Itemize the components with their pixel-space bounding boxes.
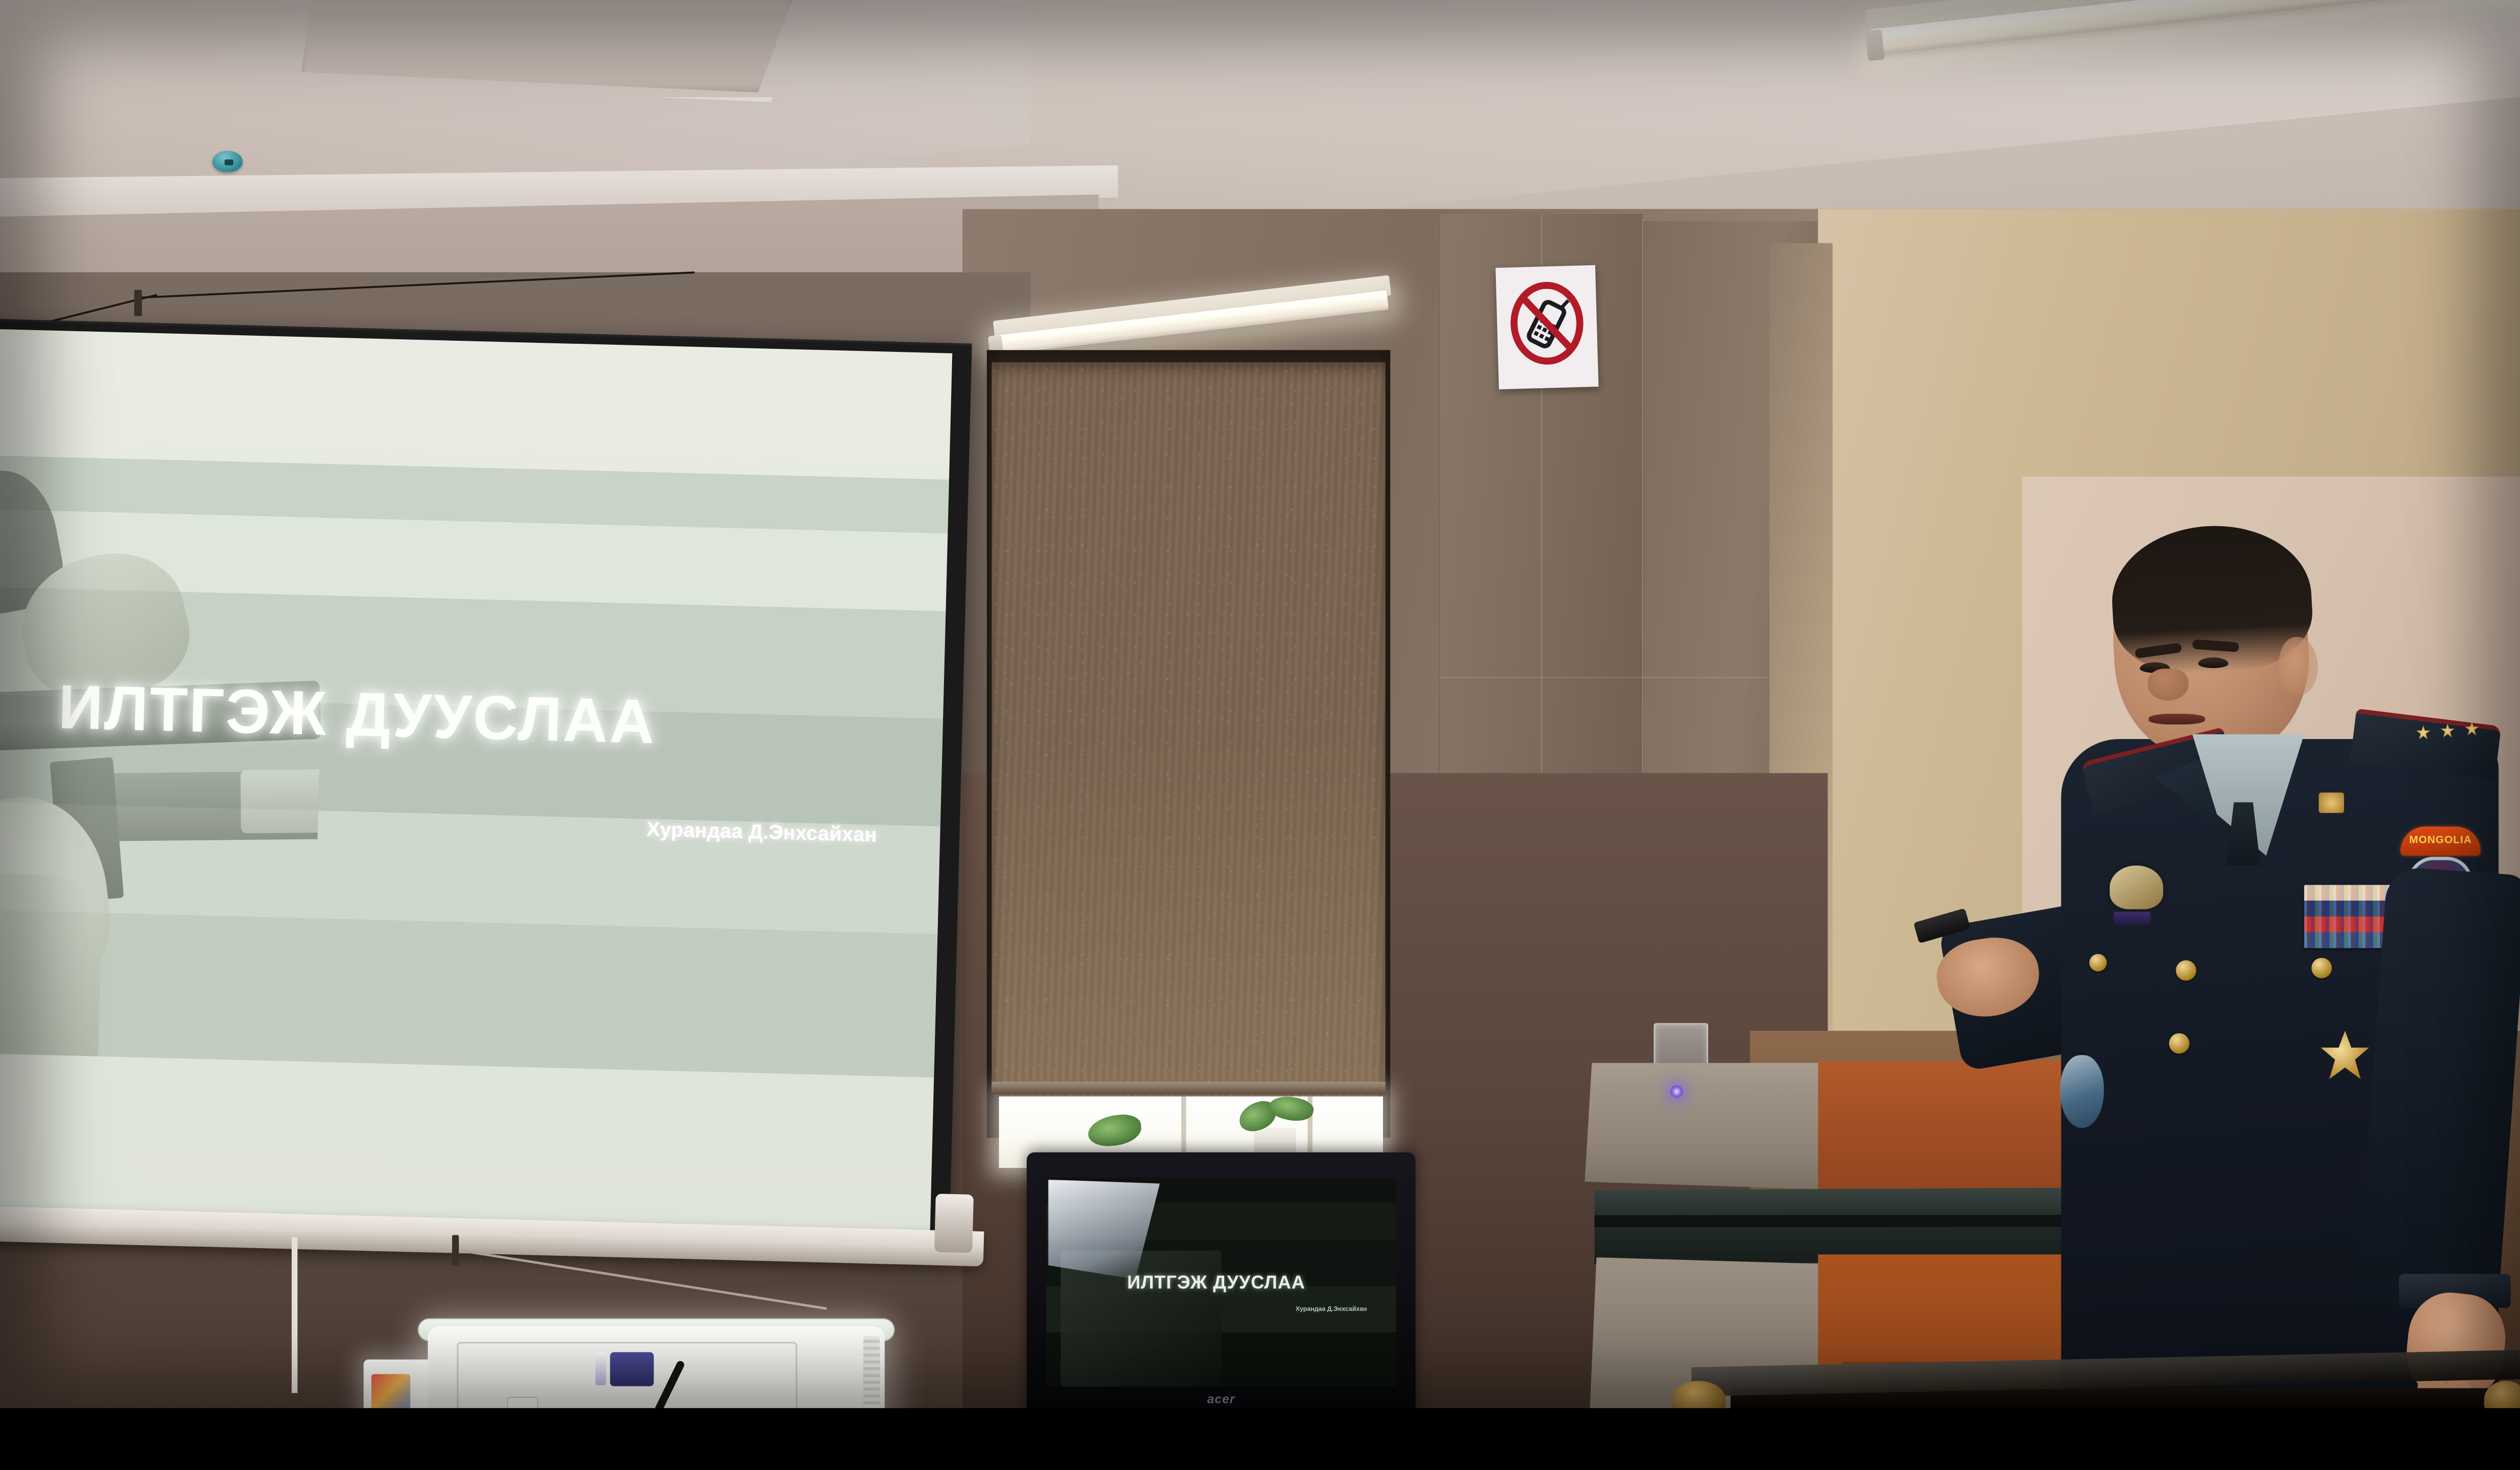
officer-side-badge	[2060, 1055, 2104, 1128]
screen-pull-cord[interactable]	[292, 1238, 298, 1393]
officer-ear	[2279, 637, 2318, 696]
officer-nose	[2148, 668, 2188, 701]
officer-button-4	[2089, 954, 2107, 971]
slide-photo-body	[0, 872, 103, 1062]
blind-texture	[992, 362, 1385, 1096]
officer-wing-badge	[2110, 866, 2163, 909]
officer-button-3	[2169, 1033, 2190, 1054]
screen-mount-hook	[134, 290, 142, 316]
officer-button-2	[2311, 958, 2332, 978]
projection-screen-surface: ИЛТГЭЖ ДУУСЛАА Хурандаа Д.Энхсайхан	[0, 329, 952, 1243]
lectern-top-side	[1585, 1063, 1823, 1189]
image-bottom-edge	[0, 1408, 2520, 1418]
officer-presenter: MONGOLIA	[2032, 530, 2520, 1418]
officer-button-1	[2176, 960, 2196, 981]
officer-patch-text: MONGOLIA	[2401, 833, 2481, 846]
conference-hall-photo: ИЛТГЭЖ ДУУСЛАА Хурандаа Д.Энхсайхан ИЛТГ…	[0, 0, 2520, 1418]
officer-eye-right	[2198, 657, 2228, 668]
no-phone-icon	[1495, 265, 1598, 390]
officer-collar-insignia	[2319, 792, 2344, 813]
no-mobile-phones-sign	[1495, 265, 1598, 390]
blind-bottom-bar[interactable]	[992, 1082, 1385, 1094]
projector-vents	[863, 1336, 880, 1418]
monitor-slide-subtitle: Хурандаа Д.Энхсайхан	[1046, 1305, 1367, 1312]
projection-screen: ИЛТГЭЖ ДУУСЛАА Хурандаа Д.Энхсайхан	[0, 321, 972, 1250]
lectern-status-led	[1670, 1085, 1683, 1098]
monitor-slide-title: ИЛТГЭЖ ДУУСЛАА	[1046, 1272, 1387, 1293]
projector-front-panel	[457, 1342, 797, 1415]
cable-hook	[452, 1235, 459, 1265]
officer-name-bar	[2114, 911, 2151, 924]
laptop-monitor[interactable]: ИЛТГЭЖ ДУУСЛАА Хурандаа Д.Энхсайхан acer	[1027, 1152, 1416, 1418]
slide-photo-soldier	[0, 455, 327, 1062]
projector-lens-highlight	[596, 1352, 606, 1385]
wall-seam-2	[1642, 219, 1644, 792]
smoke-detector-led	[224, 160, 233, 166]
screen-roller-endcap	[934, 1194, 974, 1253]
tube-endcap-right	[1865, 29, 1885, 61]
officer-patch-arc: MONGOLIA	[2401, 827, 2481, 856]
projector-lens	[610, 1352, 654, 1386]
smoke-detector-icon	[212, 151, 242, 172]
window-roller-blind[interactable]	[992, 362, 1385, 1096]
officer-mouth	[2149, 714, 2205, 724]
acer-logo: acer	[1027, 1391, 1416, 1406]
wall-seam-h-1	[1439, 677, 1823, 679]
slide: ИЛТГЭЖ ДУУСЛАА Хурандаа Д.Энхсайхан	[0, 455, 949, 1078]
